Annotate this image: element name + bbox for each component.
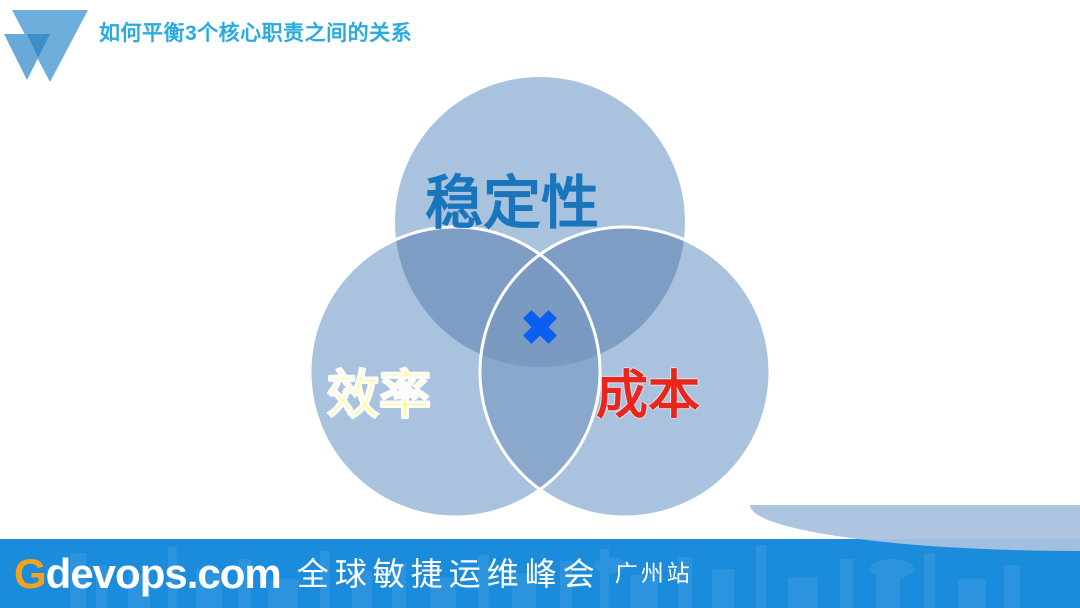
conference-city: 广州站 [615,562,693,585]
gdevops-triangle-logo-icon [4,4,96,92]
brand-text-devops: devops.com [46,553,281,595]
venn-label-efficiency: 效率 [327,370,431,422]
footer-banner: G devops.com 全球敏捷运维峰会 广州站 [0,539,1080,608]
gdevops-brand: G devops.com [14,553,281,595]
slide-canvas: 如何平衡3个核心职责之间的关系 [0,0,1080,608]
page-title: 如何平衡3个核心职责之间的关系 [99,20,412,47]
venn-diagram: 稳定性 效率 成本 [270,62,800,547]
conference-name: 全球敏捷运维峰会 [297,558,601,590]
venn-label-cost: 成本 [596,370,700,422]
cross-marker-icon [518,305,562,349]
footer-content: G devops.com 全球敏捷运维峰会 广州站 [14,539,693,608]
brand-letter-g: G [14,553,46,595]
venn-label-stability: 稳定性 [425,175,599,233]
